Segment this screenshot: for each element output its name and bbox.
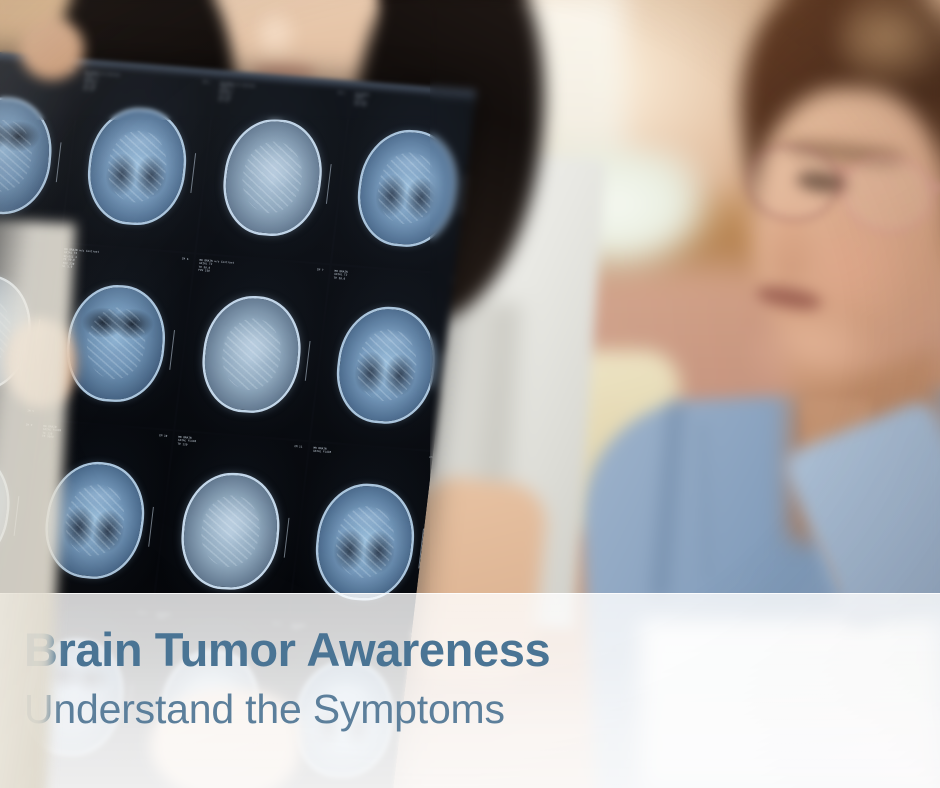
brain-scan-image: [354, 128, 461, 248]
slice-annotation-top-left: MR BRAIN w/o Contrast AXIAL T1 SE/OSC 4 …: [218, 82, 255, 105]
mri-slice: MR BRAIN w/o Contrast AXIAL T1 SE/OSC 4 …: [196, 78, 350, 264]
slice-annotation-top-right: IM 11: [294, 445, 303, 449]
slice-annotation-top-left: MR BRAIN AXIAL T2 TE 90.0: [333, 270, 347, 281]
doctor-nose: [254, 12, 300, 64]
brain-scan-image: [220, 118, 325, 237]
eyeglass-lens-right: [838, 152, 939, 239]
slice-annotation-top-left: MR BRAIN AXIAL FLAIR: [313, 447, 332, 455]
slice-annotation-top-right: IM 7: [317, 268, 324, 272]
patient-chin: [742, 318, 882, 408]
scan-scale-bar: [283, 518, 289, 558]
slice-annotation-top-left: MR BRAIN w/o Contrast AXIAL T2 TE 90.0 F…: [198, 259, 234, 275]
slice-annotation-top-left: MR BRAIN AXIAL FLAIR TE 120: [177, 436, 196, 448]
mri-slice: MR BRAIN AXIAL TE 14.0 FOV 230IM 4: [331, 89, 476, 275]
eyeglass-lens-left: [742, 140, 843, 227]
mri-slice: MR BRAIN w/o Contrast AXIAL T1 SE/OSC 4 …: [61, 67, 215, 253]
brain-scan-image: [200, 296, 303, 413]
brain-scan-image: [66, 286, 167, 402]
scan-scale-bar: [304, 341, 310, 381]
mri-slice: MR BRAIN w/o Contrast AXIAL T2 TE 90.0 F…: [175, 255, 329, 441]
slice-annotation-top-right: IM 3: [338, 91, 345, 95]
scan-scale-bar: [325, 164, 331, 204]
scan-scale-bar: [55, 143, 61, 183]
slice-annotation-top-right: IM 6: [182, 257, 189, 261]
page-subtitle: Understand the Symptoms: [24, 689, 916, 730]
slice-annotation-top-left: MR BRAIN w/o Contrast AXIAL T1 SE/OSC 4 …: [83, 71, 120, 94]
brain-tumor-awareness-banner: MR BRAIN AXIAL TE 12 TR 500IM 1MR BRAIN …: [0, 0, 940, 788]
page-title: Brain Tumor Awareness: [24, 626, 916, 673]
brain-scan-image: [86, 108, 189, 225]
brain-scan-image: [334, 306, 439, 425]
mri-slice: MR BRAIN AXIAL FLAIR TE 120IM 11: [154, 431, 308, 617]
slice-annotation-top-right: IM 2: [203, 81, 210, 85]
brain-scan-image: [180, 473, 281, 589]
slice-annotation-top-right: IM 10: [159, 434, 168, 438]
brain-scan-image: [0, 98, 53, 214]
caption-overlay-panel: Brain Tumor Awareness Understand the Sym…: [0, 593, 940, 788]
scan-scale-bar: [148, 507, 154, 547]
slice-annotation-top-left: MR BRAIN AXIAL TE 14.0 FOV 230: [354, 93, 369, 108]
scan-scale-bar: [169, 330, 175, 370]
brain-scan-image: [314, 483, 417, 600]
doctor-finger: [20, 18, 84, 80]
caption-text-block: Brain Tumor Awareness Understand the Sym…: [24, 626, 916, 730]
scan-scale-bar: [190, 154, 196, 194]
